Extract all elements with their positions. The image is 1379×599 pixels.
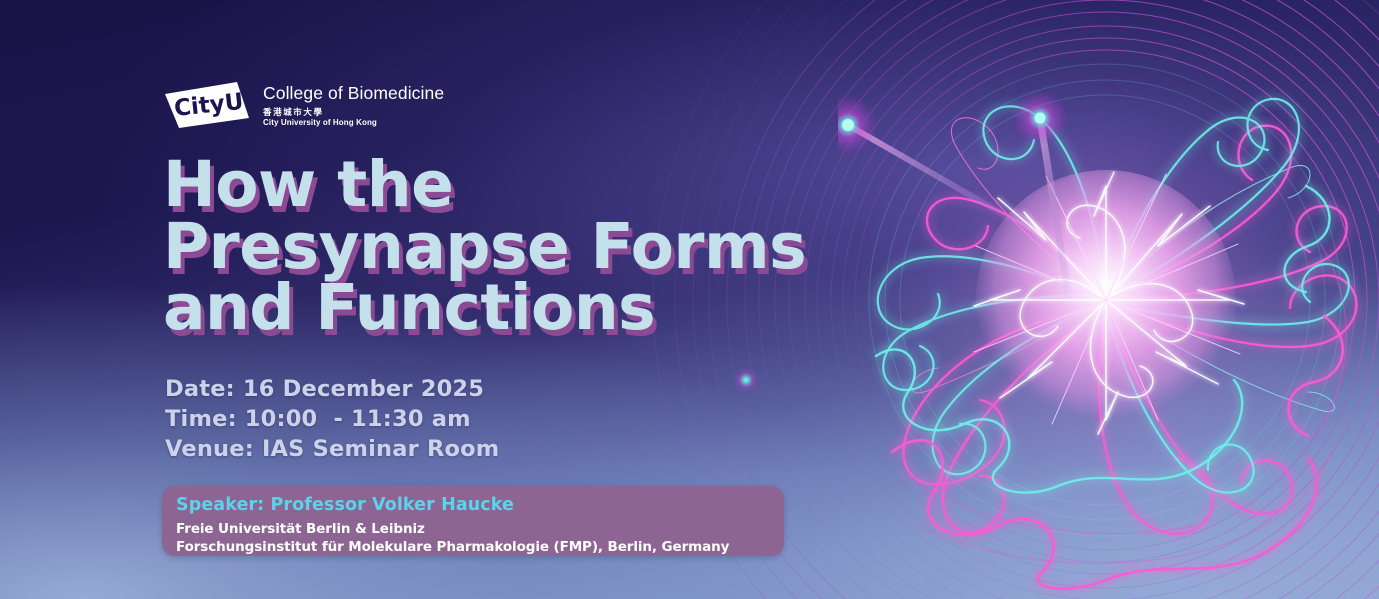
poster-title: How the Presynapse Forms and Functions: [163, 154, 923, 339]
seminar-poster: CityU College of Biomedicine 香港城市大學 City…: [0, 0, 1379, 599]
glow-particle-top: [1012, 90, 1074, 330]
speaker-info-box: Speaker: Professor Volker Haucke Freie U…: [162, 486, 784, 556]
cityu-banner-logo: CityU: [163, 80, 251, 130]
title-line-2: Presynapse Forms: [163, 216, 923, 278]
event-time: Time: 10:00 - 11:30 am: [165, 405, 499, 435]
university-name-english: City University of Hong Kong: [263, 118, 444, 127]
speaker-affiliation-line-2: Forschungsinstitut für Molekulare Pharma…: [176, 538, 784, 556]
event-details: Date: 16 December 2025 Time: 10:00 - 11:…: [165, 375, 499, 465]
title-line-1: How the: [163, 154, 923, 216]
title-line-3: and Functions: [163, 277, 923, 339]
speaker-affiliation-line-1: Freie Universität Berlin & Leibniz: [176, 520, 784, 538]
university-name-chinese: 香港城市大學: [263, 108, 444, 118]
event-date: Date: 16 December 2025: [165, 375, 499, 405]
cityu-logo-block: CityU College of Biomedicine 香港城市大學 City…: [163, 80, 444, 130]
event-venue: Venue: IAS Seminar Room: [165, 435, 499, 465]
speaker-name: Speaker: Professor Volker Haucke: [176, 495, 784, 517]
college-name: College of Biomedicine: [263, 84, 444, 103]
